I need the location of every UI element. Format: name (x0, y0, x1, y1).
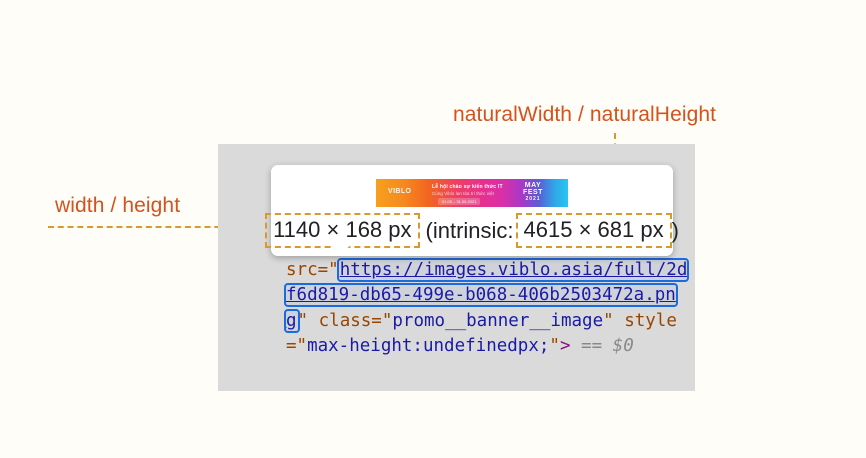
intrinsic-label-suffix: ) (672, 218, 679, 244)
code-style-value: max-height:undefinedpx; (307, 336, 549, 356)
tooltip-pointer-arrow (328, 241, 354, 255)
intrinsic-dimensions-value: 4615 × 681 px (516, 213, 672, 248)
banner-badge-line1: MAY (520, 182, 546, 189)
banner-dateline-text: 01.05 – 31.05.2021 (438, 198, 480, 205)
code-selected-reference: $0 (613, 336, 634, 356)
banner-headline-text: Lễ hội chào sự kiến thức IT (432, 184, 503, 190)
code-class-attribute: class=" (308, 311, 392, 331)
annotation-label-width-height: width / height (55, 194, 180, 218)
banner-image-preview: VIBLO Lễ hội chào sự kiến thức IT Cùng V… (376, 179, 568, 207)
intrinsic-label-prefix: (intrinsic: (420, 218, 516, 244)
annotation-label-natural-dimensions: naturalWidth / naturalHeight (453, 103, 716, 127)
code-tag-close: > (560, 336, 571, 356)
code-equals-marker: == (581, 336, 602, 356)
banner-brand-text: VIBLO (388, 188, 411, 195)
code-src-attribute: src=" (286, 260, 339, 280)
banner-mayfest-badge: MAY FEST 2021 (520, 182, 546, 203)
banner-badge-line2: FEST (520, 189, 546, 196)
code-style-close-quote: " (549, 336, 560, 356)
code-class-close-quote: " (603, 311, 614, 331)
banner-badge-year: 2021 (520, 196, 546, 203)
code-class-value: promo__banner__image (392, 311, 603, 331)
banner-subline-text: Cùng Viblo lan tỏa tri thức việt (432, 191, 494, 196)
code-src-close-quote: " (298, 311, 309, 331)
